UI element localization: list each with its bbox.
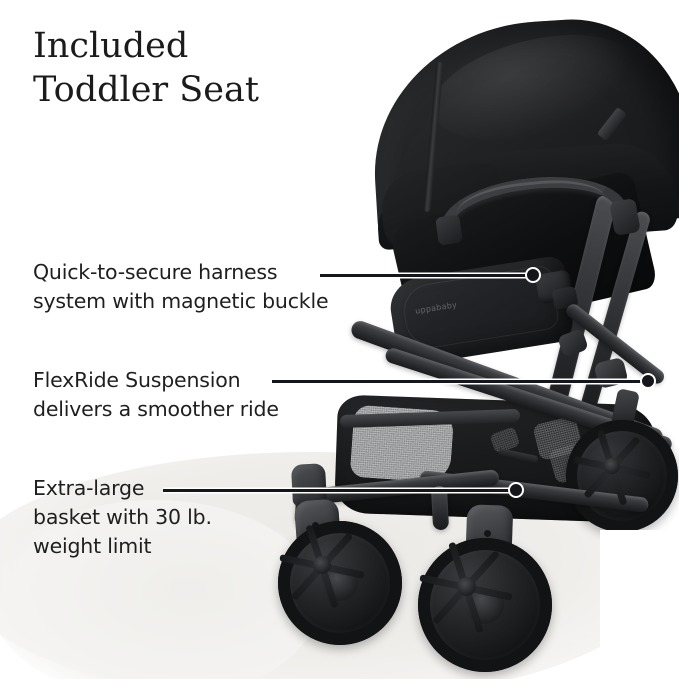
bumper-mount-right <box>609 198 641 236</box>
callout-basket-line-3: weight limit <box>33 532 212 561</box>
leader-dot-suspension <box>640 373 656 389</box>
leader-line-basket <box>163 489 516 492</box>
callout-harness-line-2: system with magnetic buckle <box>33 287 328 316</box>
frame-tube-middle-drop <box>431 486 449 531</box>
callout-basket: Extra-large basket with 30 lb. weight li… <box>33 474 212 561</box>
leader-line-harness <box>320 274 533 277</box>
page-title: Included Toddler Seat <box>33 24 363 112</box>
callout-suspension-line-2: delivers a smoother ride <box>33 395 279 424</box>
wheel-hub <box>313 556 331 574</box>
leader-dot-basket <box>508 482 524 498</box>
leader-line-suspension <box>272 380 648 383</box>
product-feature-graphic: uppababy <box>0 0 679 679</box>
frame-hinge-lower <box>593 357 628 389</box>
callout-suspension-line-1: FlexRide Suspension <box>33 366 279 395</box>
page-title-line-1: Included <box>33 24 363 68</box>
page-title-line-2: Toddler Seat <box>33 68 363 112</box>
callout-harness: Quick-to-secure harness system with magn… <box>33 258 328 316</box>
wheel-hub <box>604 458 620 474</box>
leader-dot-harness <box>525 267 541 283</box>
bumper-mount-left <box>435 214 463 245</box>
wheel-hub <box>457 577 476 596</box>
callout-harness-line-1: Quick-to-secure harness <box>33 258 328 287</box>
rear-wheel-tire <box>566 420 678 532</box>
fork-bolt-right <box>484 530 491 537</box>
callout-basket-line-2: basket with 30 lb. <box>33 503 212 532</box>
background-mask <box>600 530 679 679</box>
callout-basket-line-1: Extra-large <box>33 474 212 503</box>
callout-suspension: FlexRide Suspension delivers a smoother … <box>33 366 279 424</box>
